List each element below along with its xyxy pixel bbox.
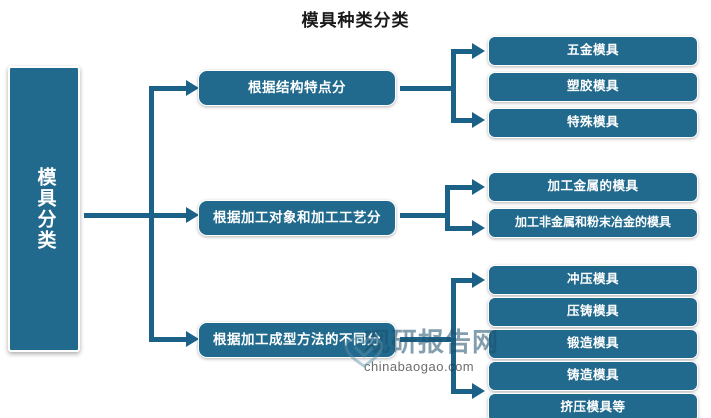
leaf-node-casting-mold[interactable]: 铸造模具 — [488, 361, 698, 391]
arrow-branch-1-leaf-3 — [472, 112, 485, 128]
root-node-mold-classification[interactable]: 模具分类 — [8, 66, 80, 352]
leaf-node-hardware-mold[interactable]: 五金模具 — [488, 36, 698, 66]
arrow-branch-3-leaf-1 — [472, 272, 485, 288]
connector-branch-3-spine — [451, 279, 456, 392]
arrow-branch-2-leaf-1 — [472, 179, 485, 195]
page-title: 模具种类分类 — [0, 6, 711, 31]
connector-branch-2-leaf-1 — [445, 185, 475, 190]
connector-trunk-to-branch-3 — [149, 337, 189, 342]
connector-branch-3-stem — [400, 337, 456, 342]
connector-branch-1-spine — [451, 50, 456, 120]
connector-trunk-to-branch-1 — [149, 86, 189, 91]
branch-node-object-process[interactable]: 根据加工对象和加工工艺分 — [198, 200, 396, 236]
connector-branch-2-stem — [400, 213, 450, 218]
leaf-node-stamping-mold[interactable]: 冲压模具 — [488, 265, 698, 295]
arrow-branch-2-leaf-2 — [472, 220, 485, 236]
connector-branch-2-spine — [445, 186, 450, 230]
leaf-node-nonmetal-powder-metallurgy-mold[interactable]: 加工非金属和粉末冶金的模具 — [488, 208, 698, 238]
connector-branch-2-leaf-2 — [445, 226, 475, 231]
connector-trunk-to-branch-2 — [149, 213, 189, 218]
diagram-canvas: 模具种类分类 模具分类 根据结构特点分 根据加工对象和加工工艺分 根据加工成型方… — [0, 0, 711, 418]
leaf-node-special-mold[interactable]: 特殊模具 — [488, 108, 698, 138]
branch-node-forming-method[interactable]: 根据加工成型方法的不同分 — [198, 322, 396, 358]
leaf-node-metal-processing-mold[interactable]: 加工金属的模具 — [488, 172, 698, 202]
leaf-node-plastic-mold[interactable]: 塑胶模具 — [488, 72, 698, 102]
arrow-branch-3-leaf-5 — [472, 383, 485, 399]
leaf-node-extrusion-mold[interactable]: 挤压模具等 — [488, 393, 698, 418]
branch-node-structure[interactable]: 根据结构特点分 — [198, 70, 396, 106]
connector-branch-1-stem — [400, 86, 456, 91]
leaf-node-die-casting-mold[interactable]: 压铸模具 — [488, 297, 698, 327]
connector-root-stem — [84, 213, 154, 218]
leaf-node-forging-mold[interactable]: 锻造模具 — [488, 329, 698, 359]
arrow-branch-1-leaf-1 — [472, 43, 485, 59]
